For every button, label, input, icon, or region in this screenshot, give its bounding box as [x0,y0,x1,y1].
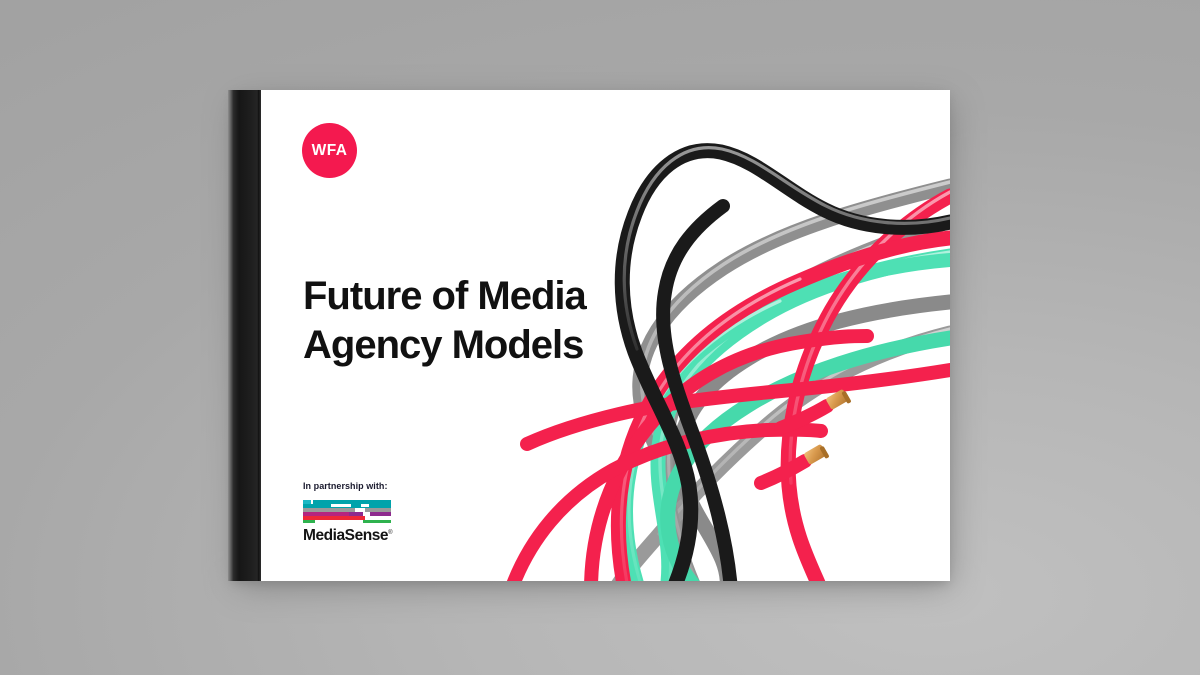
cable-mint-1 [658,256,950,581]
book-cover: WFA Future of Media Agency Models In par… [228,90,950,581]
book-spine [228,90,262,581]
cable-mint-2 [668,338,950,581]
partnership-block: In partnership with: [303,481,483,545]
cable-gray-4 [666,222,950,581]
cable-gray-4-gloss [669,218,950,581]
cable-red-2 [618,238,950,581]
cable-black-2 [663,206,731,581]
cable-black-1-gloss [624,148,950,349]
cable-gray-1-gloss [642,182,950,539]
cable-mint-1-gloss [660,252,950,581]
registered-trademark-icon: ® [388,530,392,536]
cable-red-4 [591,336,867,581]
cable-mint-3 [626,260,950,581]
cable-gray-1 [640,186,950,581]
cable-tip-upper [781,389,852,428]
cover-page: WFA Future of Media Agency Models In par… [261,90,950,581]
partnership-label: In partnership with: [303,481,483,491]
screenshot-canvas: WFA Future of Media Agency Models In par… [0,0,1200,675]
mediasense-wordmark-text: MediaSense [303,527,388,544]
cable-tip-lower [761,444,830,483]
cable-gray-2 [615,333,950,581]
cable-red-5-with-tip [511,430,821,581]
cable-red-1-gloss [790,192,950,483]
cable-gray-2-gloss [659,329,950,534]
page-title: Future of Media Agency Models [303,272,663,370]
cable-black-1 [622,151,950,581]
cable-red-1 [788,196,950,581]
mediasense-wordmark: MediaSense® [303,527,393,545]
cable-red-3 [527,370,950,444]
wfa-logo: WFA [302,123,357,178]
mediasense-logo-mark [303,500,391,523]
wfa-logo-text: WFA [312,142,348,160]
cable-gray-3 [679,302,950,581]
